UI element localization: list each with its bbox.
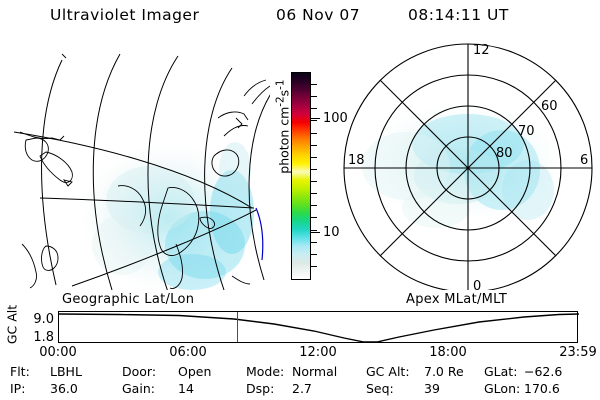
observation-date: 06 Nov 07 [276,6,360,24]
mlat-label-80: 80 [496,146,513,161]
status-label: GC Alt: [366,364,410,379]
status-row: Flt:LBHLDoor:OpenMode:NormalGC Alt:7.0 R… [0,364,600,381]
status-label: Dsp: [246,381,274,396]
colorbar-tick-minor [311,242,317,243]
status-label: Door: [122,364,156,379]
observation-time: 08:14:11 UT [408,6,509,24]
status-value: Normal [292,364,337,379]
colorbar-tick-minor [311,217,317,218]
orbit-x-tick: 23:59 [558,346,598,359]
colorbar-tick-minor [311,181,317,182]
colorbar-tick-minor [311,133,317,134]
status-value: 39 [424,381,440,396]
status-value: 36.0 [50,381,78,396]
ultraviolet-imager-window: Ultraviolet Imager 06 Nov 07 08:14:11 UT [0,0,600,400]
colorbar-axis-label: photon cm-2s-1 [274,57,291,197]
status-value: 7.0 Re [424,364,464,379]
instrument-title: Ultraviolet Imager [50,6,199,24]
colorbar-tick-minor [311,266,317,267]
status-label: Gain: [122,381,155,396]
colorbar-panel[interactable]: photon cm-2s-1 10010 [262,60,332,295]
status-value: 170.6 [524,381,560,396]
colorbar-gradient [292,73,310,279]
colorbar-tick-minor [311,193,317,194]
orbit-y-tick: 1.8 [33,331,54,344]
status-value: LBHL [50,364,82,379]
orbit-time-marker [237,312,239,342]
apex-polar-svg: 12 6 0 18 60 70 80 [332,40,600,290]
orbit-x-tick: 18:00 [428,346,468,359]
status-value: 2.7 [292,381,312,396]
orbit-altitude-curve [59,312,579,344]
orbit-x-tick: 00:00 [38,346,78,359]
status-value: 14 [178,381,194,396]
colorbar-unit-s: s [277,90,292,97]
colorbar-tick-major [311,118,320,119]
status-label: GLon: [484,381,520,396]
colorbar-tick-minor [311,120,317,121]
status-value: Open [178,364,211,379]
colorbar-tick-minor [311,108,317,109]
orbit-altitude-panel[interactable]: GC Alt 9.01.8 00:0006:0012:0018:0023:59 [0,305,600,360]
status-label: IP: [10,381,25,396]
status-label: Seq: [366,381,394,396]
status-row: IP:36.0Gain:14Dsp:2.7Seq:39GLon:170.6 [0,381,600,398]
apex-polar-panel[interactable]: 12 6 0 18 60 70 80 [332,40,600,290]
colorbar-tick-minor [311,205,317,206]
orbit-x-tick: 06:00 [168,346,208,359]
colorbar-tick-minor [311,169,317,170]
colorbar-tick-minor [311,230,317,231]
orbit-x-tick: 12:00 [298,346,338,359]
colorbar-tick-minor [311,254,317,255]
status-label: Mode: [246,364,284,379]
colorbar-tick-minor [311,96,317,97]
status-value: −62.6 [524,364,562,379]
mlat-label-60: 60 [541,99,558,114]
orbit-y-tick: 9.0 [33,313,54,326]
mlt-label-18: 18 [348,153,365,168]
mlt-label-0: 0 [473,279,481,290]
colorbar-unit-base: photon cm [277,107,292,174]
colorbar-tick-major [311,232,320,233]
mlt-label-12: 12 [473,43,490,58]
status-panel: Flt:LBHLDoor:OpenMode:NormalGC Alt:7.0 R… [0,364,600,400]
header-bar: Ultraviolet Imager 06 Nov 07 08:14:11 UT [0,6,600,30]
mlat-label-70: 70 [518,124,535,139]
orbit-plot-box [58,311,578,343]
status-label: Flt: [10,364,30,379]
status-label: GLat: [484,364,517,379]
geographic-map-panel[interactable] [0,40,270,290]
colorbar-tick-minor [311,157,317,158]
colorbar-scale [291,72,311,280]
mlt-label-6: 6 [580,153,588,168]
aurora-emission-layer [82,142,254,290]
geographic-map-svg [0,40,270,290]
colorbar-tick-minor [311,84,317,85]
orbit-y-tick-labels: 9.01.8 [10,305,54,349]
colorbar-unit-exp1: -2 [274,96,286,106]
colorbar-unit-exp2: -1 [274,79,286,89]
colorbar-tick-minor [311,145,317,146]
